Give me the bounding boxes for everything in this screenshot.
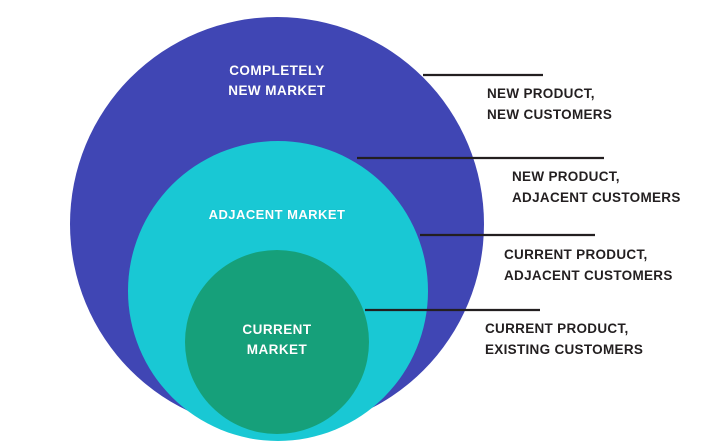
diagram-canvas: COMPLETELY NEW MARKET ADJACENT MARKET CU…	[0, 0, 720, 447]
callout-new-product-new-customers: NEW PRODUCT, NEW CUSTOMERS	[487, 84, 713, 126]
callout-current-product-existing-customers: CURRENT PRODUCT, EXISTING CUSTOMERS	[485, 319, 715, 361]
callout-current-product-adjacent-customers: CURRENT PRODUCT, ADJACENT CUSTOMERS	[504, 245, 716, 287]
market-venn-diagram	[0, 0, 720, 447]
circle-current-market	[185, 250, 369, 434]
callout-new-product-adjacent-customers: NEW PRODUCT, ADJACENT CUSTOMERS	[512, 167, 717, 209]
